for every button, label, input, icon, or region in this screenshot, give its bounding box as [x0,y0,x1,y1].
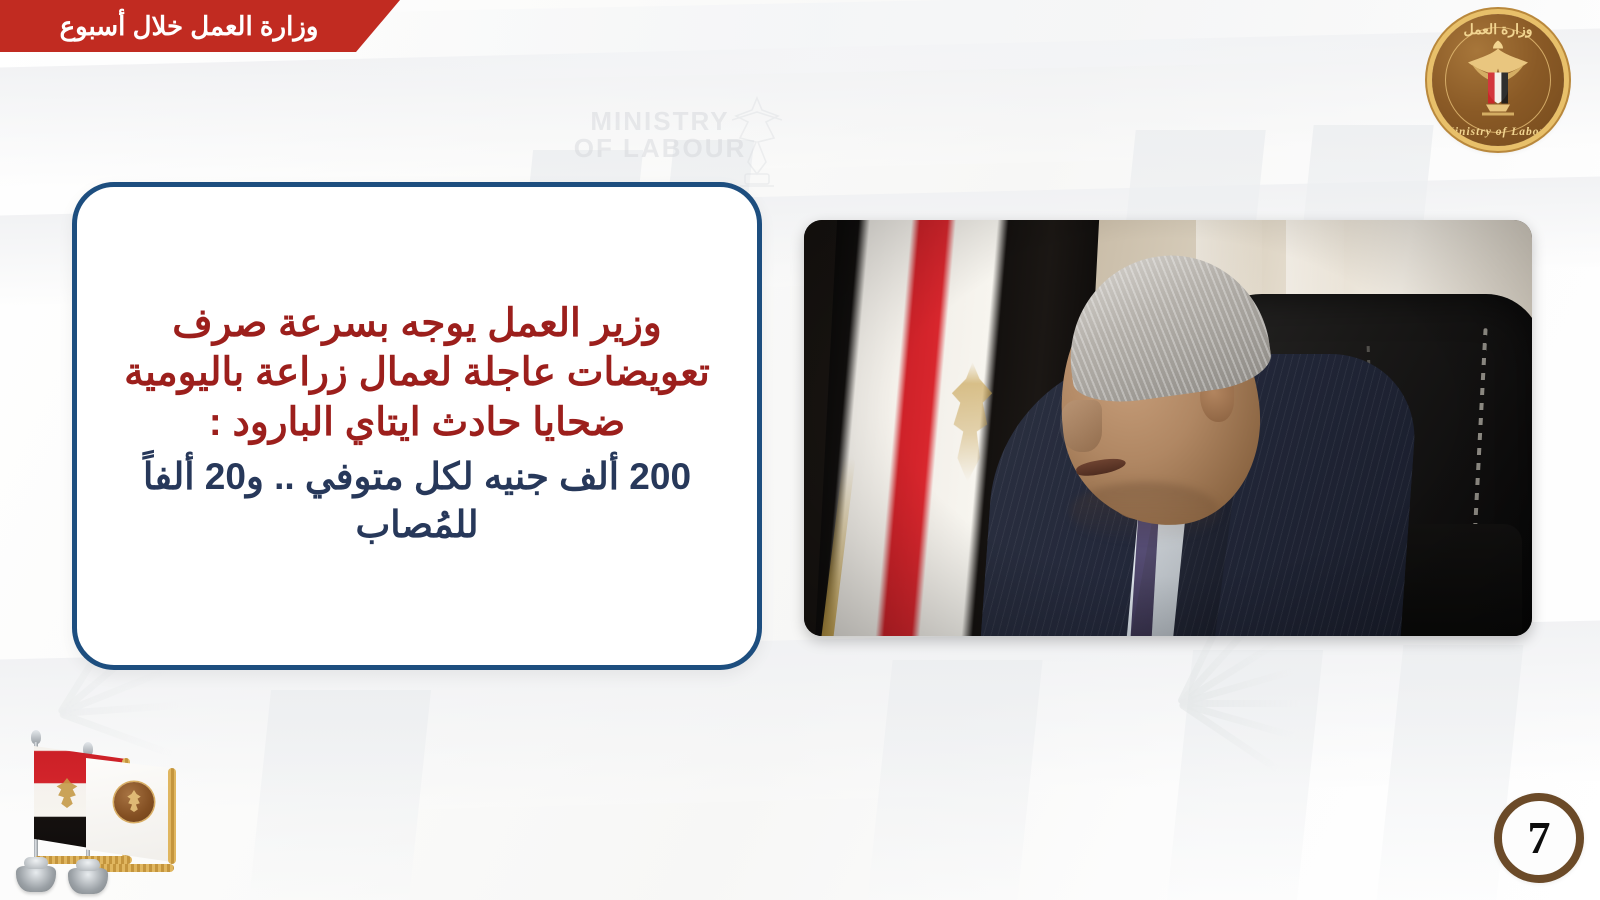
page-number-value: 7 [1528,815,1551,861]
background-slab [867,660,1042,900]
seal-english-name: Ministry of Labour [1432,126,1564,138]
flag-stand-base [68,868,108,894]
flag-eagle-icon [939,362,1001,482]
flag-stand-base [16,866,56,892]
minister-photo [804,220,1532,636]
card-headline: وزير العمل يوجه بسرعة صرف تعويضات عاجلة … [107,299,727,448]
headline-card: وزير العمل يوجه بسرعة صرف تعويضات عاجلة … [72,182,762,670]
flag-fringe [168,768,176,864]
desk-flags-group [18,704,178,894]
subject-jaw-shadow [1070,482,1220,542]
ministry-logo-seal: وزارة العمل Ministry of Labour [1432,14,1564,146]
palm-watermark-icon [1180,700,1340,900]
card-subline: 200 ألف جنيه لكل متوفي .. و20 ألفاً للمُ… [107,453,727,549]
eagle-of-saladin-icon [1462,39,1534,122]
ministry-flag-seal-icon [114,782,154,822]
header-banner-title: وزارة العمل خلال أسبوع [0,11,400,42]
subject-nose [1060,400,1102,452]
seal-arabic-name: وزارة العمل [1432,21,1564,38]
slide-canvas: MINISTRY OF LABOUR وزارة العمل خلال أسبو… [0,0,1600,900]
background-slab [249,690,431,900]
header-banner: وزارة العمل خلال أسبوع [0,0,400,52]
page-number-badge: 7 [1494,793,1584,883]
